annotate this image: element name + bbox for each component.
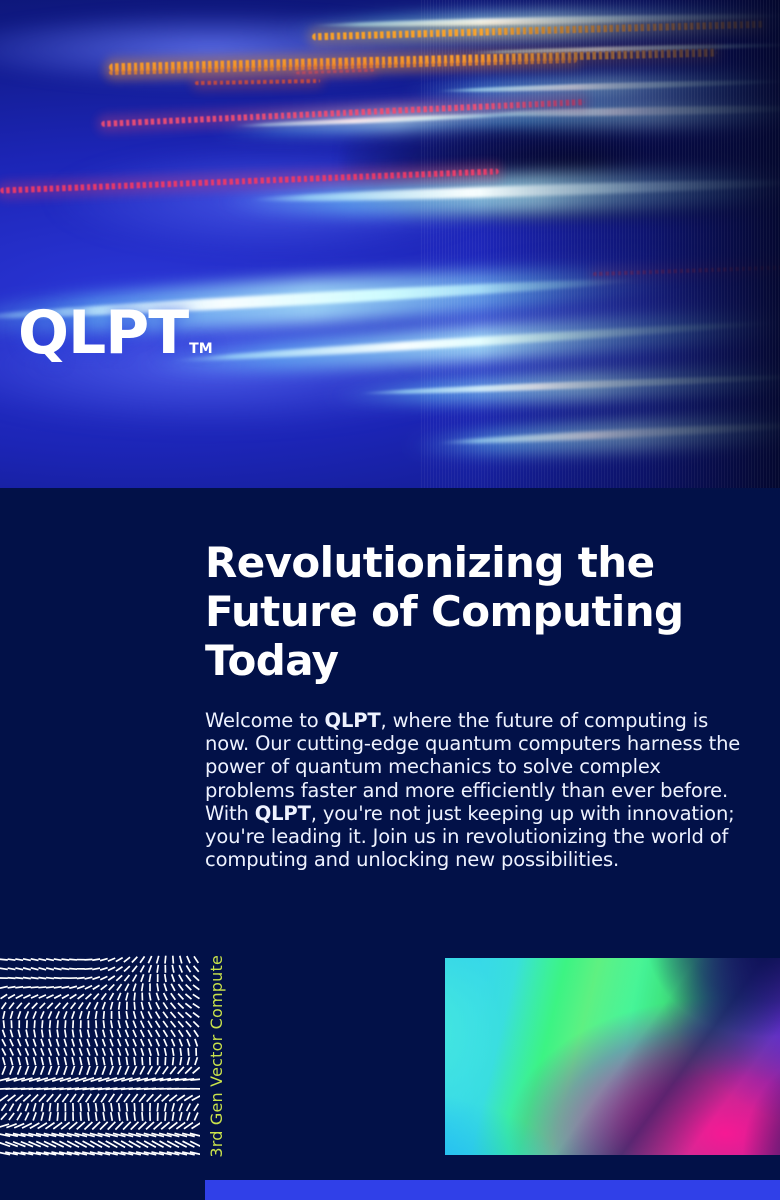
brand-mention: QLPT — [255, 802, 311, 825]
poster-root: QLPTTM Revolutionizing the Future of Com… — [0, 0, 780, 1200]
hero-light-trails-image — [0, 0, 780, 488]
vertical-caption: 3rd Gen Vector Compute — [207, 952, 226, 1158]
gradient-layer-cyan — [445, 958, 780, 1155]
brand-logo-text: QLPT — [18, 298, 188, 368]
hero-scanline-texture — [421, 0, 780, 488]
vector-field-svg — [0, 955, 200, 1158]
trademark-icon: TM — [189, 341, 212, 357]
brand-logo: QLPTTM — [18, 303, 213, 363]
vector-field-graphic — [0, 955, 200, 1158]
bottom-accent-bar — [205, 1180, 780, 1200]
content-block: Revolutionizing the Future of Computing … — [205, 538, 753, 871]
hero-dotted-streak — [296, 69, 374, 75]
vertical-caption-text: 3rd Gen Vector Compute — [207, 955, 226, 1158]
page-title: Revolutionizing the Future of Computing … — [205, 538, 753, 685]
paragraph-part-1: Welcome to — [205, 709, 325, 732]
brand-mention: QLPT — [325, 709, 381, 732]
gradient-swatch — [445, 958, 780, 1155]
body-paragraph: Welcome to QLPT, where the future of com… — [205, 709, 753, 871]
